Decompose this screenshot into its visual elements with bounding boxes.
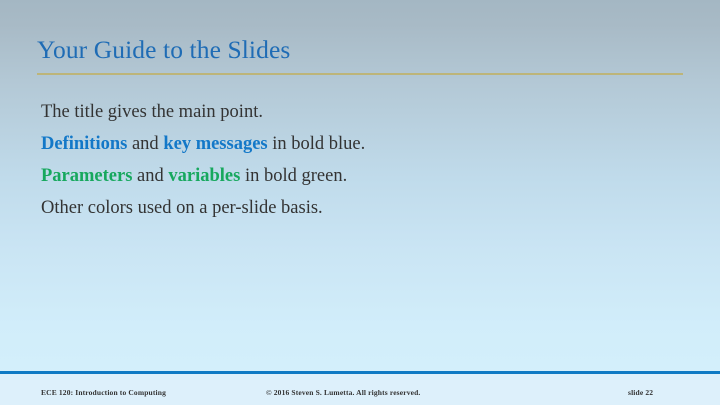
body-line-4-text: Other colors used on a per-slide basis. [41, 198, 323, 218]
body-line-3-tail: in bold green. [240, 166, 347, 186]
title-block: Your Guide to the Slides [37, 34, 685, 65]
body-line-3-connector: and [132, 166, 168, 186]
page-title: Your Guide to the Slides [37, 34, 685, 65]
body-line-4: Other colors used on a per-slide basis. [41, 192, 681, 224]
slide-footer: ECE 120: Introduction to Computing © 201… [0, 374, 720, 405]
keyword-definitions: Definitions [41, 134, 127, 154]
footer-copyright-label: © 2016 Steven S. Lumetta. All rights res… [266, 388, 420, 397]
body-line-1: The title gives the main point. [41, 96, 681, 128]
body-line-2: Definitions and key messages in bold blu… [41, 128, 681, 160]
footer-course-label: ECE 120: Introduction to Computing [41, 388, 166, 397]
body-line-1-text: The title gives the main point. [41, 102, 263, 122]
keyword-key-messages: key messages [163, 134, 267, 154]
body-line-3: Parameters and variables in bold green. [41, 160, 681, 192]
keyword-parameters: Parameters [41, 166, 132, 186]
body-content: The title gives the main point. Definiti… [41, 96, 681, 224]
body-line-2-tail: in bold blue. [268, 134, 366, 154]
footer-slide-number: slide 22 [628, 388, 653, 397]
keyword-variables: variables [168, 166, 240, 186]
slide-canvas: Your Guide to the Slides The title gives… [0, 0, 720, 405]
body-line-2-connector: and [127, 134, 163, 154]
title-underline-rule [37, 73, 683, 75]
